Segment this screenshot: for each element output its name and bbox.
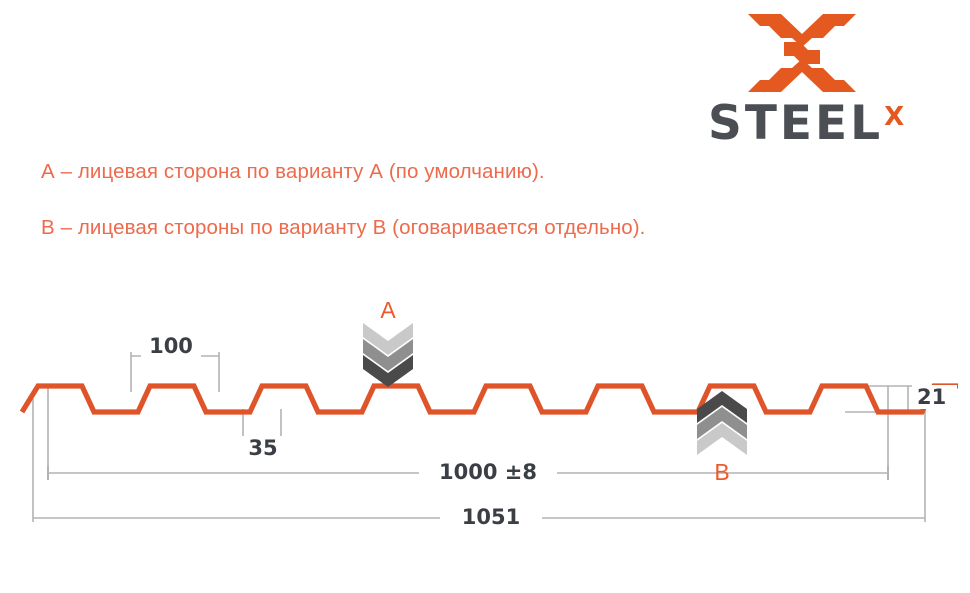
dimension-height-label: 21 — [917, 385, 957, 409]
marker-b-label: В — [702, 459, 742, 486]
dimension-working-width-label: 1000 ±8 — [419, 460, 557, 484]
marker-a-label: А — [368, 297, 408, 324]
dimension-valley-width-label: 35 — [240, 436, 286, 460]
profile-drawing-page: STEELX А – лицевая сторона по варианту А… — [0, 0, 970, 593]
dimension-total-width-label: 1051 — [440, 505, 542, 529]
dimension-lines — [33, 352, 925, 522]
marker-a-chevrons — [363, 323, 413, 387]
sheet-profile-line — [22, 386, 958, 412]
dimension-pitch-label: 100 — [141, 334, 201, 358]
